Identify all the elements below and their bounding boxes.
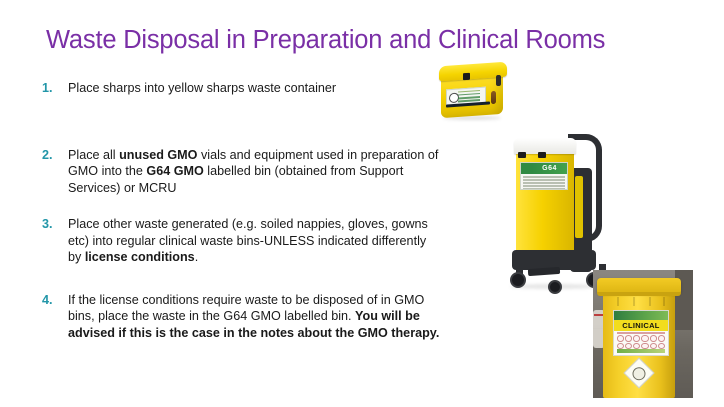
- plain-text: .: [195, 250, 199, 264]
- list-item-text: Place other waste generated (e.g. soiled…: [68, 217, 428, 264]
- label-subtitle-bar: [617, 332, 665, 334]
- emphasis-text: license conditions: [85, 250, 195, 264]
- clinical-bin-rib: [617, 297, 619, 306]
- list-item-text: Place sharps into yellow sharps waste co…: [68, 81, 336, 95]
- label-header-band: [614, 311, 668, 320]
- sharps-container-image: [437, 62, 511, 120]
- page-title: Waste Disposal in Preparation and Clinic…: [46, 26, 686, 55]
- trolley-wheel: [548, 280, 562, 294]
- clinical-label-title: CLINICAL: [614, 320, 668, 331]
- content-list: 1. Place sharps into yellow sharps waste…: [40, 80, 440, 341]
- plain-text: Place all: [68, 148, 119, 162]
- sharps-container-latch: [491, 91, 496, 104]
- sharps-container-clip: [463, 73, 470, 80]
- sharps-container-clip: [496, 75, 501, 86]
- list-item: 2. Place all unused GMO vials and equipm…: [40, 147, 440, 197]
- clinical-bin-label: CLINICAL: [613, 310, 669, 356]
- list-item: 3. Place other waste generated (e.g. soi…: [40, 216, 440, 266]
- list-item-number: 2.: [42, 147, 53, 164]
- clinical-wheelie-bin-image: CLINICAL: [593, 270, 693, 398]
- clinical-bin-rib: [649, 297, 651, 306]
- label-logo-block: [521, 163, 532, 174]
- clinical-bin-rib: [633, 297, 635, 306]
- g64-trolley-bin-image: G64: [506, 124, 602, 292]
- emphasis-text: G64 GMO: [146, 164, 203, 178]
- list-item-text: If the license conditions require waste …: [68, 293, 439, 340]
- emphasis-text: unused GMO: [119, 148, 197, 162]
- label-footer-band: [617, 349, 665, 353]
- g64-bin-label: G64: [520, 162, 568, 190]
- slide-canvas: Waste Disposal in Preparation and Clinic…: [0, 0, 724, 407]
- trolley-wheel: [510, 272, 526, 288]
- list-item-number: 3.: [42, 216, 53, 233]
- g64-bin-clip: [518, 152, 526, 158]
- label-pictogram-grid: [617, 335, 665, 349]
- clinical-bin-rib: [663, 297, 665, 306]
- list-item-number: 1.: [42, 80, 53, 97]
- list-item: 4. If the license conditions require was…: [40, 292, 440, 342]
- label-text-lines: [523, 176, 565, 190]
- list-item-number: 4.: [42, 292, 53, 309]
- g64-label-code: G64: [532, 163, 567, 174]
- g64-bin-clip: [538, 152, 546, 158]
- list-item-text: Place all unused GMO vials and equipment…: [68, 148, 438, 195]
- plain-text: Place sharps into yellow sharps waste co…: [68, 81, 336, 95]
- clinical-bin-lid-lip: [597, 292, 681, 296]
- biohazard-icon: [449, 92, 459, 103]
- list-item: 1. Place sharps into yellow sharps waste…: [40, 80, 440, 97]
